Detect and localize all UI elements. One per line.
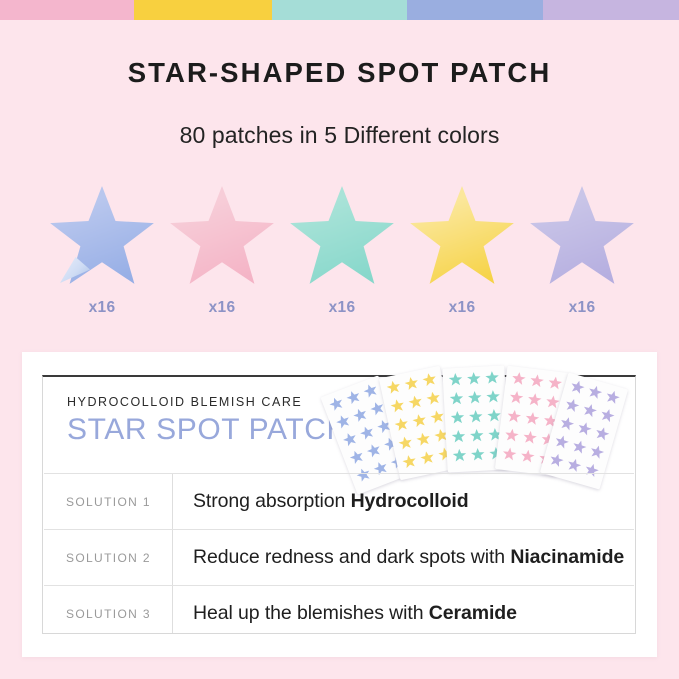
yellow-star-wrap: [408, 186, 516, 289]
solution-text-ingredient: Ceramide: [429, 602, 517, 624]
solution-text-ingredient: Niacinamide: [510, 546, 624, 568]
star-swatch-row: x16x16x16x16x16: [0, 186, 679, 326]
solution-text-ingredient: Hydrocolloid: [351, 490, 469, 512]
mint-star-count-label: x16: [282, 299, 402, 317]
pink-star-icon: [168, 186, 276, 289]
color-bar-segment-lavender: [543, 0, 679, 20]
mini-star-icon: [522, 430, 537, 445]
solution-text-plain: Reduce redness and dark spots with: [193, 546, 510, 568]
mini-star-icon: [504, 428, 519, 443]
solution-text-plain: Strong absorption: [193, 490, 351, 512]
mini-star-icon: [594, 425, 611, 441]
mini-star-icon: [327, 395, 345, 412]
color-bar-segment-mint: [272, 0, 407, 20]
mini-star-icon: [397, 435, 413, 451]
mini-star-icon: [502, 447, 517, 462]
mini-star-icon: [511, 371, 526, 386]
product-card: HYDROCOLLOID BLEMISH CARE STAR SPOT PATC…: [22, 352, 657, 657]
mini-star-icon: [389, 398, 405, 414]
mini-star-icon: [589, 444, 606, 460]
page-subtitle: 80 patches in 5 Different colors: [0, 122, 679, 149]
mini-star-icon: [403, 376, 419, 392]
mini-star-icon: [547, 376, 562, 391]
mini-star-icon: [351, 406, 369, 423]
mini-star-icon: [509, 390, 524, 405]
mini-star-icon: [520, 449, 535, 464]
mini-star-icon: [449, 392, 464, 406]
blue-star-count-label: x16: [42, 299, 162, 317]
mini-star-icon: [486, 390, 501, 404]
solution-row: SOLUTION 3Heal up the blemishes with Cer…: [44, 585, 634, 641]
mini-star-icon: [581, 402, 598, 418]
solutions-table: SOLUTION 1Strong absorption Hydrocolloid…: [44, 473, 634, 633]
mint-star-cell: x16: [282, 186, 402, 326]
lavender-star-cell: x16: [522, 186, 642, 326]
mini-star-icon: [358, 424, 376, 441]
mini-star-icon: [411, 413, 427, 429]
mini-star-icon: [506, 409, 521, 424]
mini-star-icon: [485, 371, 500, 385]
pink-star-count-label: x16: [162, 299, 282, 317]
mini-star-icon: [604, 389, 621, 405]
color-bar-segment-periwinkle: [407, 0, 543, 20]
mini-star-icon: [527, 392, 542, 407]
mini-star-icon: [348, 448, 366, 465]
product-card-border: HYDROCOLLOID BLEMISH CARE STAR SPOT PATC…: [42, 375, 636, 634]
mini-star-icon: [566, 457, 583, 473]
mini-star-icon: [548, 452, 565, 468]
mini-star-icon: [564, 397, 581, 413]
color-bar: [0, 0, 679, 20]
mini-star-icon: [470, 429, 485, 443]
infographic-page: STAR-SHAPED SPOT PATCH 80 patches in 5 D…: [0, 0, 679, 679]
solution-text: Strong absorption Hydrocolloid: [172, 490, 469, 513]
mini-star-icon: [425, 390, 441, 406]
pink-star-cell: x16: [162, 186, 282, 326]
mini-star-icon: [487, 409, 502, 423]
mini-star-icon: [385, 379, 401, 395]
mini-star-icon: [468, 391, 483, 405]
mini-star-icon: [421, 372, 437, 388]
solution-row: SOLUTION 2Reduce redness and dark spots …: [44, 529, 634, 585]
mini-star-icon: [571, 439, 588, 455]
yellow-star-count-label: x16: [402, 299, 522, 317]
mini-star-icon: [365, 442, 383, 459]
mini-star-icon: [451, 430, 466, 444]
lavender-star-icon: [528, 186, 636, 289]
mini-star-icon: [415, 431, 431, 447]
lavender-star-wrap: [528, 186, 636, 289]
mini-star-icon: [450, 411, 465, 425]
mini-star-icon: [448, 373, 463, 387]
mint-star-wrap: [288, 186, 396, 289]
solution-text: Reduce redness and dark spots with Niaci…: [172, 546, 624, 569]
mini-star-icon: [599, 407, 616, 423]
yellow-star-cell: x16: [402, 186, 522, 326]
mini-star-icon: [345, 389, 363, 406]
pink-star-wrap: [168, 186, 276, 289]
patch-sheets-image: [337, 367, 627, 477]
mini-star-icon: [362, 382, 380, 399]
mini-star-icon: [525, 411, 540, 426]
mini-star-icon: [407, 394, 423, 410]
solution-text-plain: Heal up the blemishes with: [193, 602, 429, 624]
mini-star-icon: [341, 431, 359, 448]
mini-star-icon: [401, 454, 417, 470]
mini-star-icon: [529, 373, 544, 388]
mini-star-icon: [553, 434, 570, 450]
mini-star-icon: [469, 410, 484, 424]
mini-star-icon: [393, 417, 409, 433]
mini-star-icon: [471, 448, 486, 462]
mint-star-icon: [288, 186, 396, 289]
mini-star-icon: [467, 372, 482, 386]
mini-star-icon: [587, 384, 604, 400]
mini-star-icon: [569, 379, 586, 395]
lavender-star-count-label: x16: [522, 299, 642, 317]
color-bar-segment-pink: [0, 0, 134, 20]
yellow-star-icon: [408, 186, 516, 289]
page-title: STAR-SHAPED SPOT PATCH: [0, 57, 679, 89]
mini-star-icon: [576, 420, 593, 436]
color-bar-segment-yellow: [134, 0, 272, 20]
mini-star-icon: [429, 409, 445, 425]
solution-label: SOLUTION 1: [44, 495, 172, 509]
solution-label: SOLUTION 3: [44, 607, 172, 621]
mini-star-icon: [419, 450, 435, 466]
solution-label: SOLUTION 2: [44, 551, 172, 565]
blue-star-cell: x16: [42, 186, 162, 326]
blue-star-wrap: [48, 186, 156, 289]
solution-row: SOLUTION 1Strong absorption Hydrocolloid: [44, 473, 634, 529]
mini-star-icon: [334, 413, 352, 430]
blue-star-icon: [48, 186, 156, 289]
mini-star-icon: [452, 449, 467, 463]
mini-star-icon: [559, 415, 576, 431]
solution-text: Heal up the blemishes with Ceramide: [172, 602, 517, 625]
